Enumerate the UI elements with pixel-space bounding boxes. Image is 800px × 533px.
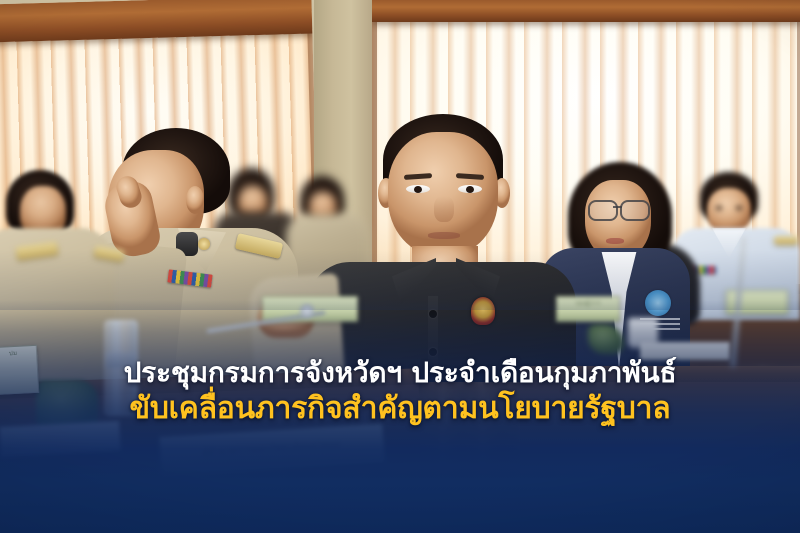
center-man-pupil-left <box>414 186 422 193</box>
woman-right-glasses-left <box>588 200 618 221</box>
news-banner-image: ปม รองผู้ว่าฯ ผู้อำนวยการมหาวิทยาลัยนครพ… <box>0 0 800 533</box>
woman-right-glasses-right <box>620 200 650 221</box>
woman-right-lips <box>606 238 624 244</box>
left-man-collar-insignia <box>198 238 210 250</box>
title-line-1: ประชุมกรมการจังหวัดฯ ประจำเดือนกุมภาพันธ… <box>0 358 800 388</box>
woman-right-glasses-bridge <box>613 206 622 208</box>
officer-right-eye-right <box>736 206 742 210</box>
left-man-ear <box>186 186 204 214</box>
center-man-nose <box>434 196 454 222</box>
officer-right-epaulette <box>774 236 798 245</box>
officer-right-eye-left <box>716 206 722 210</box>
valance-right <box>372 0 800 22</box>
title-block: ประชุมกรมการจังหวัดฯ ประจำเดือนกุมภาพันธ… <box>0 358 800 424</box>
center-man-pupil-right <box>466 186 474 193</box>
center-man-mouth <box>428 232 460 239</box>
title-line-2: ขับเคลื่อนภารกิจสำคัญตามนโยบายรัฐบาล <box>0 393 800 425</box>
